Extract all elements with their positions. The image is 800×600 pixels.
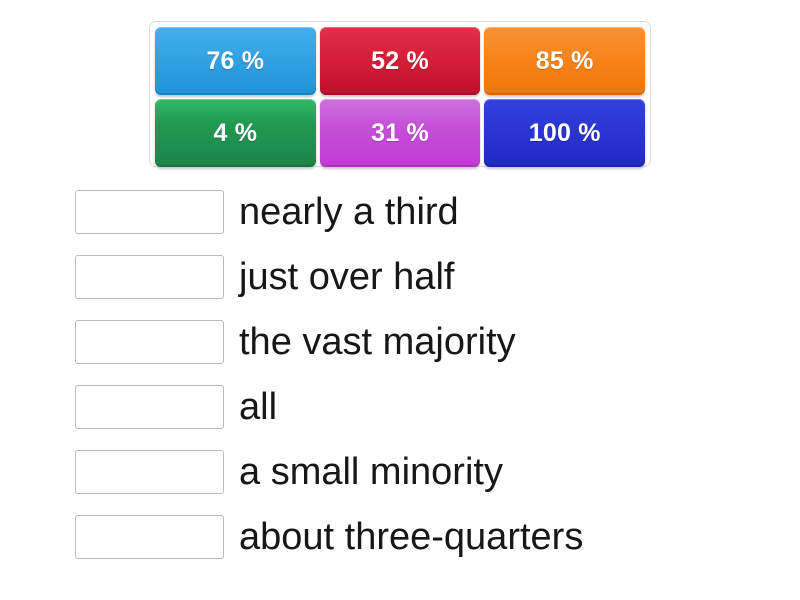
answer-label: just over half — [239, 255, 454, 299]
answer-label: a small minority — [239, 450, 503, 494]
answer-row: the vast majority — [75, 320, 775, 364]
tile-76-percent[interactable]: 76 % — [155, 27, 316, 95]
answer-row: all — [75, 385, 775, 429]
answer-label: about three-quarters — [239, 515, 583, 559]
tile-31-percent[interactable]: 31 % — [320, 99, 481, 167]
drop-zone-all[interactable] — [75, 385, 224, 429]
tile-85-percent[interactable]: 85 % — [484, 27, 645, 95]
tile-100-percent[interactable]: 100 % — [484, 99, 645, 167]
tile-row-top: 76 % 52 % 85 % — [155, 27, 645, 95]
answer-row: about three-quarters — [75, 515, 775, 559]
tile-52-percent[interactable]: 52 % — [320, 27, 481, 95]
drop-zone-the-vast-majority[interactable] — [75, 320, 224, 364]
drop-zone-just-over-half[interactable] — [75, 255, 224, 299]
answer-label: the vast majority — [239, 320, 516, 364]
drop-zone-a-small-minority[interactable] — [75, 450, 224, 494]
tile-4-percent[interactable]: 4 % — [155, 99, 316, 167]
drop-zone-nearly-a-third[interactable] — [75, 190, 224, 234]
answer-label: nearly a third — [239, 190, 459, 234]
answer-row: a small minority — [75, 450, 775, 494]
answer-list: nearly a third just over half the vast m… — [75, 190, 775, 580]
answer-row: nearly a third — [75, 190, 775, 234]
answer-label: all — [239, 385, 277, 429]
percentage-tile-tray: 76 % 52 % 85 % 4 % 31 % 100 % — [149, 21, 651, 167]
answer-row: just over half — [75, 255, 775, 299]
drop-zone-about-three-quarters[interactable] — [75, 515, 224, 559]
tile-row-bottom: 4 % 31 % 100 % — [155, 99, 645, 167]
